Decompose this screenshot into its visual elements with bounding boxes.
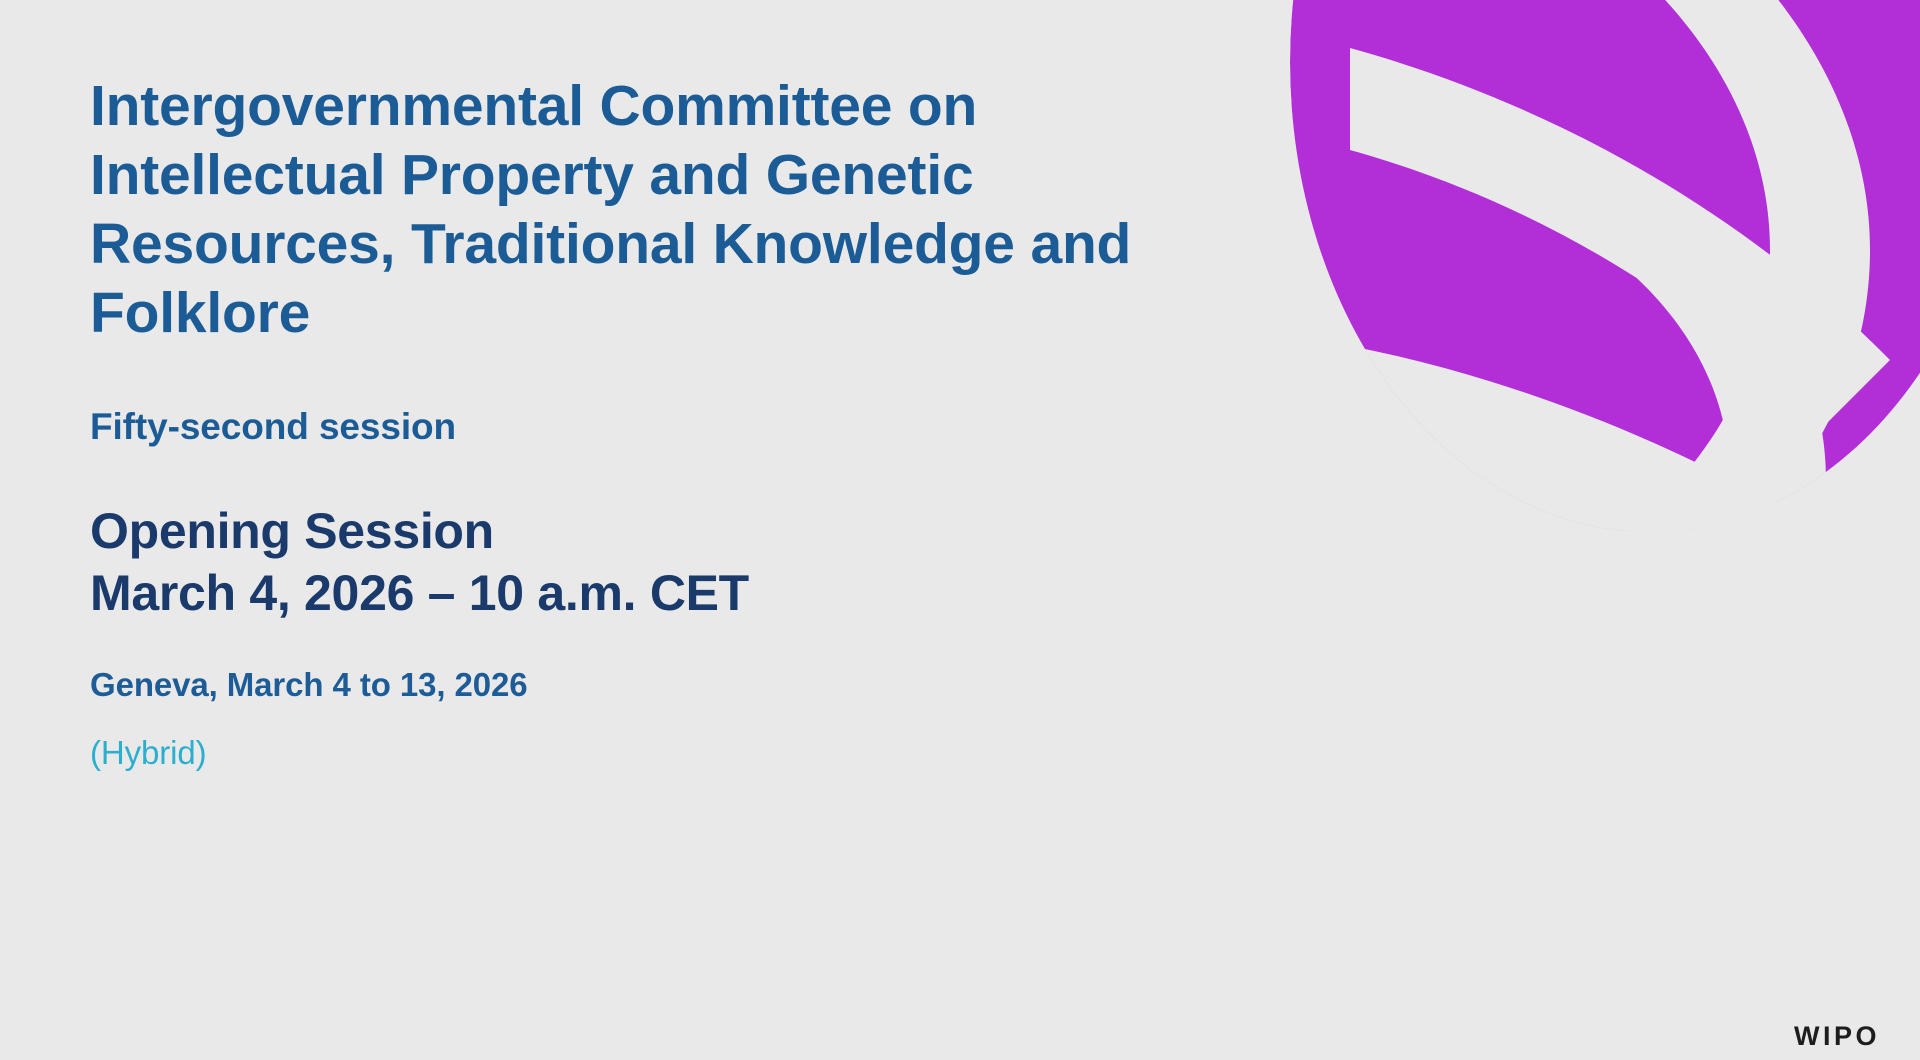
slide-content: Intergovernmental Committee on Intellect… (90, 72, 1220, 774)
headline-block: Opening Session March 4, 2026 – 10 a.m. … (90, 500, 1220, 624)
page-title: Intergovernmental Committee on Intellect… (90, 72, 1210, 348)
session-label: Fifty-second session (90, 404, 1220, 450)
presentation-slide: Intergovernmental Committee on Intellect… (0, 0, 1920, 1060)
wipo-globe-logo (1230, 0, 1920, 545)
headline-session-name: Opening Session (90, 500, 1220, 562)
meeting-mode-badge: (Hybrid) (90, 732, 1220, 774)
wipo-wordmark: WIPO (1794, 1021, 1880, 1052)
headline-datetime: March 4, 2026 – 10 a.m. CET (90, 562, 1220, 624)
venue-and-dates: Geneva, March 4 to 13, 2026 (90, 664, 1220, 706)
